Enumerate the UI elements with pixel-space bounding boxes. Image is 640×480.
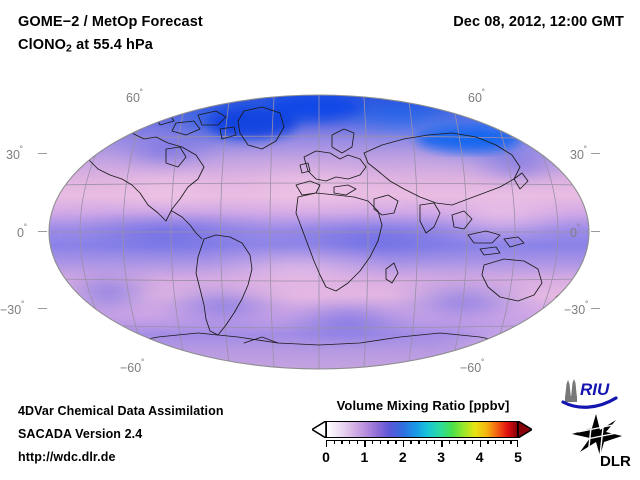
colorbar-tick-label: 4 xyxy=(476,449,484,465)
colorbar-major-tick xyxy=(480,440,481,447)
species-name: ClONO xyxy=(18,37,66,53)
colorbar-minor-tick xyxy=(487,440,488,444)
colorbar-minor-tick xyxy=(410,440,411,444)
riu-tower-icon xyxy=(565,379,577,402)
colorbar-minor-tick xyxy=(334,440,335,444)
colorbar-bar-row xyxy=(312,420,534,440)
colorbar-minor-tick xyxy=(387,440,388,444)
colorbar-major-tick xyxy=(517,440,518,447)
lat-label-right-60: 60˚ xyxy=(468,89,485,105)
colorbar-minor-tick xyxy=(357,440,358,444)
colorbar-tick-labels: 012345 xyxy=(326,448,518,466)
dlr-logo: DLR xyxy=(566,412,632,468)
instrument-title: GOME−2 / MetOp Forecast xyxy=(18,14,203,30)
colorbar-tick-label: 3 xyxy=(437,449,445,465)
colorbar-tick-label: 0 xyxy=(322,449,330,465)
lat-tick-right-m30 xyxy=(591,308,600,309)
figure-header-left: GOME−2 / MetOp Forecast ClONO2 at 55.4 h… xyxy=(18,14,203,55)
colorbar: Volume Mixing Ratio [ppbv] 012345 xyxy=(312,398,534,466)
colorbar-major-tick xyxy=(441,440,442,447)
colorbar-title: Volume Mixing Ratio [ppbv] xyxy=(312,398,534,413)
colorbar-tick-label: 2 xyxy=(399,449,407,465)
lat-label-right-30: 30˚ xyxy=(570,146,587,162)
lat-tick-left-0 xyxy=(38,231,47,232)
colorbar-ticks xyxy=(326,440,518,448)
colorbar-minor-tick xyxy=(503,440,504,444)
colorbar-cap-left-icon xyxy=(312,421,326,438)
lat-tick-left-30 xyxy=(38,153,47,154)
colorbar-minor-tick xyxy=(341,440,342,444)
colorbar-major-tick xyxy=(326,440,327,447)
colorbar-tick-label: 1 xyxy=(360,449,368,465)
dlr-mark-icon xyxy=(572,414,622,456)
riu-logo: RIU xyxy=(560,378,634,410)
colorbar-minor-tick xyxy=(418,440,419,444)
colorbar-minor-tick xyxy=(434,440,435,444)
lat-label-right-0: 0˚ xyxy=(570,224,580,240)
colorbar-tick-label: 5 xyxy=(514,449,522,465)
species-title: ClONO2 at 55.4 hPa xyxy=(18,37,203,55)
colorbar-minor-tick xyxy=(495,440,496,444)
figure-canvas: GOME−2 / MetOp Forecast ClONO2 at 55.4 h… xyxy=(0,0,640,480)
colorbar-minor-tick xyxy=(457,440,458,444)
lat-label-left-m30: −30˚ xyxy=(0,301,24,317)
colorbar-minor-tick xyxy=(426,440,427,444)
colorbar-minor-tick xyxy=(510,440,511,444)
lat-tick-right-30 xyxy=(591,153,600,154)
colorbar-major-tick xyxy=(364,440,365,447)
colorbar-gradient xyxy=(326,421,518,438)
lat-label-right-m30: −30˚ xyxy=(564,301,588,317)
forecast-datetime: Dec 08, 2012, 12:00 GMT xyxy=(453,14,624,30)
lat-tick-left-m30 xyxy=(38,308,47,309)
footer-method: 4DVar Chemical Data Assimilation xyxy=(18,404,224,418)
lat-label-left-60: 60˚ xyxy=(126,89,143,105)
world-map: 60˚ 30˚ 0˚ −30˚ −60˚ 60˚ 30˚ 0˚ −30˚ −60… xyxy=(48,93,590,371)
species-level: at 55.4 hPa xyxy=(72,37,153,53)
dlr-wordmark: DLR xyxy=(600,453,631,468)
footer-version: SACADA Version 2.4 xyxy=(18,427,142,441)
colorbar-cap-right-icon xyxy=(518,421,532,438)
riu-wordmark: RIU xyxy=(580,380,610,399)
colorbar-major-tick xyxy=(403,440,404,447)
colorbar-minor-tick xyxy=(349,440,350,444)
footer-url[interactable]: http://wdc.dlr.de xyxy=(18,450,116,464)
lat-label-right-m60: −60˚ xyxy=(460,359,484,375)
colorbar-minor-tick xyxy=(372,440,373,444)
colorbar-minor-tick xyxy=(449,440,450,444)
lat-label-left-0: 0˚ xyxy=(17,224,27,240)
colorbar-minor-tick xyxy=(472,440,473,444)
colorbar-minor-tick xyxy=(380,440,381,444)
lat-label-left-30: 30˚ xyxy=(6,146,23,162)
colorbar-minor-tick xyxy=(464,440,465,444)
lat-label-left-m60: −60˚ xyxy=(120,359,144,375)
colorbar-minor-tick xyxy=(395,440,396,444)
lat-tick-right-0 xyxy=(591,231,600,232)
map-graphic xyxy=(48,93,590,371)
